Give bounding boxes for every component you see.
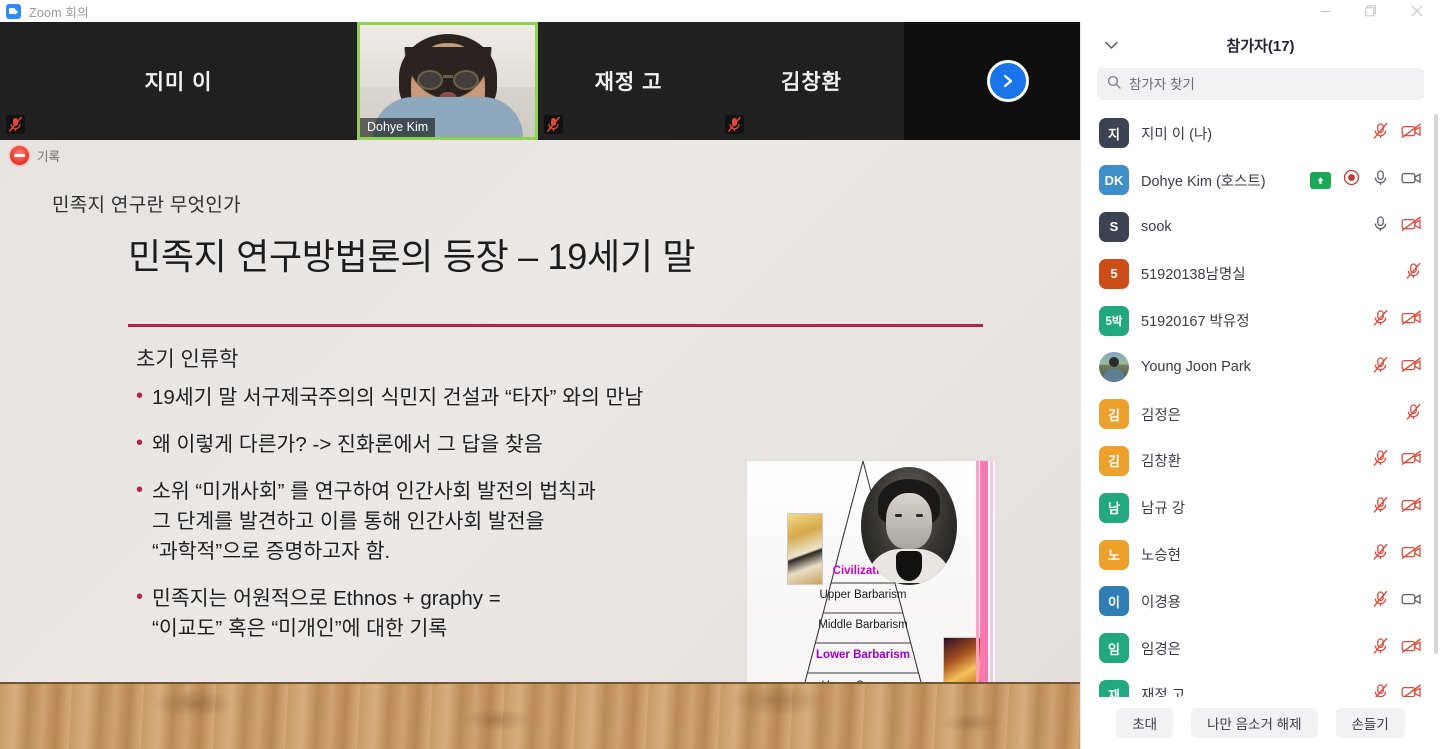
participants-panel: 참가자(17) 지 지미 이 (나) DK Dohye Kim: [1080, 22, 1440, 749]
list-item: • 민족지는 어원적으로 Ethnos + graphy = “이교도” 혹은 …: [136, 584, 751, 644]
mic-muted-icon[interactable]: [1372, 356, 1389, 379]
list-item[interactable]: 이 이경용: [1081, 578, 1440, 625]
page-title: 민족지 연구방법론의 등장 – 19세기 말: [128, 228, 695, 280]
raise-hand-button[interactable]: 손들기: [1336, 708, 1405, 738]
list-item: • 왜 이렇게 다른가? -> 진화론에서 그 답을 찾음: [136, 430, 751, 460]
participants-panel-footer: 초대 나만 음소거 해제 손들기: [1081, 697, 1440, 749]
list-item[interactable]: 5 51920138남명실: [1081, 250, 1440, 297]
pyramid-level-label: Middle Barbarism: [747, 619, 979, 631]
pyramid-level-label: Lower Barbarism: [747, 649, 979, 661]
slide-bullet-list: • 19세기 말 서구제국주의의 식민지 건설과 “타자” 와의 만남 • 왜 …: [136, 383, 751, 661]
list-item[interactable]: 남 남규 강: [1081, 484, 1440, 531]
chevron-down-icon[interactable]: [1101, 35, 1121, 55]
wooden-floor-background: [0, 682, 1080, 749]
recording-indicator: 기록: [10, 146, 60, 165]
mic-on-icon[interactable]: [1372, 169, 1389, 192]
avatar: 김: [1099, 399, 1129, 429]
video-tile-kimchanghwan[interactable]: 김창환: [719, 22, 904, 140]
list-item[interactable]: S sook: [1081, 204, 1440, 251]
mic-muted-icon[interactable]: [1372, 590, 1389, 613]
list-item[interactable]: 재 재정 고: [1081, 672, 1440, 697]
list-item-text: 소위 “미개사회” 를 연구하여 인간사회 발전의 법칙과 그 단계를 발견하고…: [152, 477, 596, 567]
avatar: 남: [1099, 493, 1129, 523]
participant-name: 51920167 박유정: [1141, 310, 1250, 331]
video-tile-name: 지미 이: [145, 66, 213, 96]
participants-list[interactable]: 지 지미 이 (나) DK Dohye Kim (호스트): [1081, 110, 1440, 697]
restore-button[interactable]: [1348, 0, 1394, 22]
camera-off-icon[interactable]: [1401, 357, 1422, 378]
participant-name: sook: [1141, 219, 1172, 235]
title-divider: [128, 324, 983, 327]
screen-share-icon[interactable]: [1310, 172, 1331, 189]
list-item: • 소위 “미개사회” 를 연구하여 인간사회 발전의 법칙과 그 단계를 발견…: [136, 477, 751, 567]
video-tile-dohye-kim-active-speaker[interactable]: Dohye Kim: [357, 22, 538, 140]
camera-off-icon[interactable]: [1401, 544, 1422, 565]
avatar: 지: [1099, 118, 1129, 148]
participant-name: 김창환: [1141, 450, 1181, 471]
mic-muted-icon[interactable]: [1372, 122, 1389, 145]
slide-subtitle: 초기 인류학: [136, 343, 238, 373]
search-box[interactable]: [1097, 68, 1424, 100]
list-item[interactable]: 김 김정은: [1081, 391, 1440, 438]
avatar: 5: [1099, 259, 1129, 289]
pyramid-level-label: Upper Barbarism: [747, 589, 979, 601]
avatar: 재: [1099, 680, 1129, 697]
record-stop-icon: [10, 146, 29, 165]
avatar: 김: [1099, 446, 1129, 476]
recording-label: 기록: [37, 146, 60, 165]
avatar: 임: [1099, 633, 1129, 663]
search-input[interactable]: [1129, 77, 1414, 92]
camera-off-icon[interactable]: [1401, 684, 1422, 697]
invite-button[interactable]: 초대: [1116, 708, 1173, 738]
participant-name: Young Joon Park: [1141, 359, 1251, 375]
list-item-text: 민족지는 어원적으로 Ethnos + graphy = “이교도” 혹은 “미…: [152, 584, 501, 644]
mic-muted-icon[interactable]: [1372, 637, 1389, 660]
close-button[interactable]: [1394, 0, 1440, 22]
panel-scrollbar[interactable]: [1434, 114, 1438, 654]
avatar: 이: [1099, 586, 1129, 616]
mic-muted-icon: [6, 115, 25, 134]
mic-muted-icon: [544, 115, 563, 134]
participant-name: 지미 이 (나): [1141, 123, 1212, 144]
search-container: [1081, 68, 1440, 110]
bullet-marker: •: [136, 383, 152, 413]
camera-off-icon[interactable]: [1401, 216, 1422, 237]
shared-screen: 기록 민족지 연구란 무엇인가 민족지 연구방법론의 등장 – 19세기 말 초…: [0, 140, 1080, 749]
recording-icon[interactable]: [1343, 169, 1360, 191]
video-filmstrip: 지미 이 Dohye K: [0, 22, 1080, 140]
portrait-photo-icon: [861, 467, 957, 585]
participant-name: 노승현: [1141, 544, 1181, 565]
bullet-marker: •: [136, 430, 152, 460]
list-item-text: 19세기 말 서구제국주의의 식민지 건설과 “타자” 와의 만남: [152, 383, 643, 413]
participant-name: 임경은: [1141, 638, 1181, 659]
participant-name: 재정 고: [1141, 684, 1185, 697]
mic-muted-icon: [725, 115, 744, 134]
mic-muted-icon[interactable]: [1372, 449, 1389, 472]
slide-kicker: 민족지 연구란 무엇인가: [52, 190, 241, 217]
chevron-right-icon[interactable]: [987, 60, 1029, 102]
video-tile-jimi[interactable]: 지미 이: [0, 22, 357, 140]
list-item: • 19세기 말 서구제국주의의 식민지 건설과 “타자” 와의 만남: [136, 383, 751, 413]
camera-on-icon[interactable]: [1401, 591, 1422, 612]
list-item[interactable]: Young Joon Park: [1081, 344, 1440, 391]
avatar: 노: [1099, 540, 1129, 570]
camera-off-icon[interactable]: [1401, 497, 1422, 518]
mic-muted-icon[interactable]: [1372, 309, 1389, 332]
list-item[interactable]: DK Dohye Kim (호스트): [1081, 157, 1440, 204]
video-tile-name: 김창환: [781, 66, 842, 96]
camera-off-icon[interactable]: [1401, 310, 1422, 331]
mic-on-icon[interactable]: [1372, 215, 1389, 238]
window-title-bar: Zoom 회의: [0, 0, 1440, 22]
avatar: [1099, 352, 1129, 382]
bullet-marker: •: [136, 477, 152, 567]
participant-name: 51920138남명실: [1141, 263, 1246, 284]
window-controls: [1302, 0, 1440, 22]
list-item[interactable]: 임 임경은: [1081, 625, 1440, 672]
video-tile-name: 재정 고: [595, 66, 663, 96]
mic-muted-icon[interactable]: [1372, 683, 1389, 697]
list-item[interactable]: 지 지미 이 (나): [1081, 110, 1440, 157]
video-tile-name: Dohye Kim: [360, 118, 435, 137]
meeting-stage: 지미 이 Dohye K: [0, 22, 1080, 749]
participant-name: 남규 강: [1141, 497, 1185, 518]
search-icon: [1107, 75, 1121, 94]
bullet-marker: •: [136, 584, 152, 644]
avatar: S: [1099, 212, 1129, 242]
participants-panel-title: 참가자(17): [1081, 35, 1440, 56]
unmute-me-button[interactable]: 나만 음소거 해제: [1191, 708, 1317, 738]
avatar: DK: [1099, 165, 1129, 195]
list-item[interactable]: 김 김창환: [1081, 438, 1440, 485]
camera-off-icon[interactable]: [1401, 638, 1422, 659]
list-item[interactable]: 노 노승현: [1081, 531, 1440, 578]
video-tile-jaejeong-go[interactable]: 재정 고: [538, 22, 719, 140]
zoom-camera-icon: [6, 4, 21, 19]
mic-muted-icon[interactable]: [1372, 543, 1389, 566]
mic-muted-icon[interactable]: [1372, 496, 1389, 519]
list-item-text: 왜 이렇게 다른가? -> 진화론에서 그 답을 찾음: [152, 430, 543, 460]
camera-on-icon[interactable]: [1401, 170, 1422, 191]
participant-name: 이경용: [1141, 591, 1181, 612]
participant-name: 김정은: [1141, 404, 1181, 425]
minimize-button[interactable]: [1302, 0, 1348, 22]
participants-panel-header: 참가자(17): [1081, 22, 1440, 68]
avatar: 5박: [1099, 306, 1129, 336]
window-title: Zoom 회의: [29, 2, 89, 21]
mic-muted-icon[interactable]: [1405, 403, 1422, 426]
list-item[interactable]: 5박 51920167 박유정: [1081, 297, 1440, 344]
camera-off-icon[interactable]: [1401, 450, 1422, 471]
camera-off-icon[interactable]: [1401, 123, 1422, 144]
participant-name: Dohye Kim (호스트): [1141, 170, 1266, 191]
mic-muted-icon[interactable]: [1405, 262, 1422, 285]
